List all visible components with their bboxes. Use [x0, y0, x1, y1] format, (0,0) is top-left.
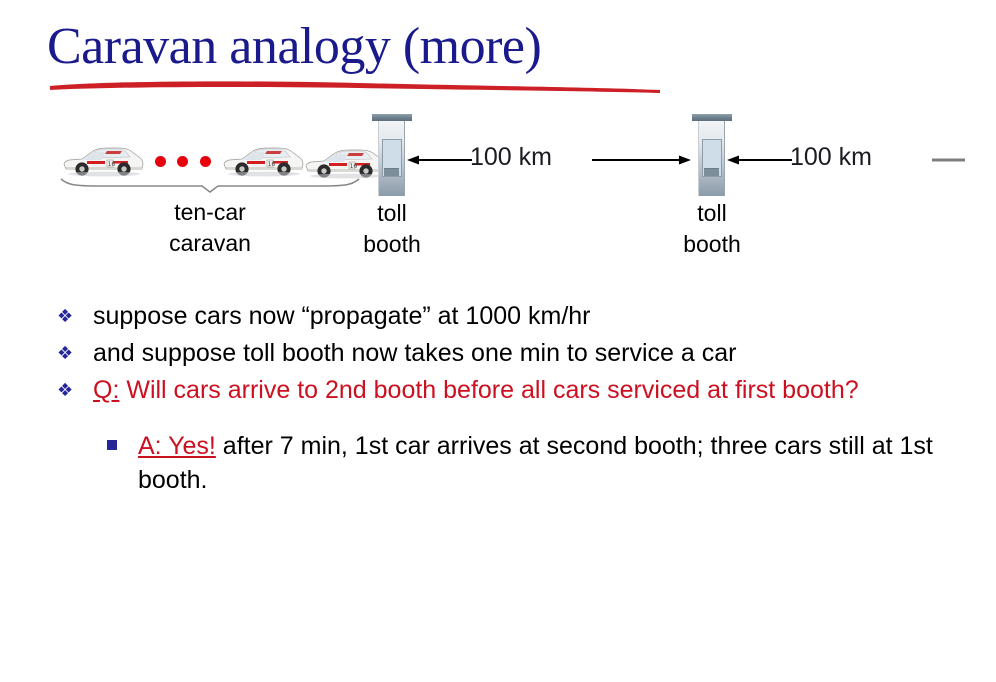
caravan-label-line2: caravan — [130, 228, 290, 259]
booth-label-line2: booth — [652, 229, 772, 260]
bullet-item-2-text: and suppose toll booth now takes one min… — [93, 339, 736, 367]
arrow-left-icon — [726, 150, 792, 170]
road-continues-dash — [932, 154, 972, 166]
sub-bullet-item: A: Yes! after 7 min, 1st car arrives at … — [0, 429, 996, 497]
diamond-bullet-icon: ❖ — [57, 341, 73, 367]
bullet-item-3: ❖ Q: Will cars arrive to 2nd booth befor… — [0, 374, 996, 407]
caravan-diagram: 16 16 — [0, 104, 996, 284]
distance-label-2: 100 km — [790, 142, 872, 172]
square-bullet-icon — [107, 440, 117, 450]
svg-text:16: 16 — [268, 161, 276, 168]
diamond-bullet-icon: ❖ — [57, 378, 73, 404]
sub-bullet-text: A: Yes! after 7 min, 1st car arrives at … — [138, 432, 933, 494]
race-car-icon: 16 — [220, 140, 306, 180]
race-car-icon: 16 — [60, 140, 146, 180]
caravan-label: ten-car caravan — [130, 197, 290, 259]
booth-label-line1: toll — [652, 198, 772, 229]
svg-text:16: 16 — [350, 163, 358, 170]
ellipsis-dot — [200, 156, 211, 167]
question-lead-label: Q: — [93, 376, 119, 404]
answer-lead-label: A: Yes! — [138, 432, 216, 460]
bullet-item-1-text: suppose cars now “propagate” at 1000 km/… — [93, 302, 591, 330]
distance-label-1: 100 km — [470, 142, 552, 172]
booth-sill — [704, 168, 719, 176]
answer-body-label: after 7 min, 1st car arrives at second b… — [138, 432, 933, 494]
toll-booth-1-label: toll booth — [332, 198, 452, 260]
caravan-brace — [60, 177, 360, 193]
booth-roof — [372, 114, 412, 121]
booth-label-line2: booth — [332, 229, 452, 260]
svg-text:16: 16 — [108, 161, 116, 168]
bullet-item-3-text: Q: Will cars arrive to 2nd booth before … — [93, 376, 859, 404]
booth-roof — [692, 114, 732, 121]
page-title: Caravan analogy (more) — [47, 18, 541, 76]
bullet-item-1: ❖ suppose cars now “propagate” at 1000 k… — [0, 300, 996, 333]
ellipsis-dot — [155, 156, 166, 167]
arrow-right-icon — [592, 150, 692, 170]
title-underline-brushstroke — [48, 78, 664, 94]
ellipsis-dot — [177, 156, 188, 167]
arrow-left-icon — [406, 150, 472, 170]
booth-label-line1: toll — [332, 198, 452, 229]
toll-booth-2-label: toll booth — [652, 198, 772, 260]
booth-sill — [384, 168, 399, 176]
question-body-label: Will cars arrive to 2nd booth before all… — [119, 376, 858, 404]
bullet-list: ❖ suppose cars now “propagate” at 1000 k… — [0, 300, 996, 497]
caravan-label-line1: ten-car — [130, 197, 290, 228]
diamond-bullet-icon: ❖ — [57, 304, 73, 330]
bullet-item-2: ❖ and suppose toll booth now takes one m… — [0, 337, 996, 370]
